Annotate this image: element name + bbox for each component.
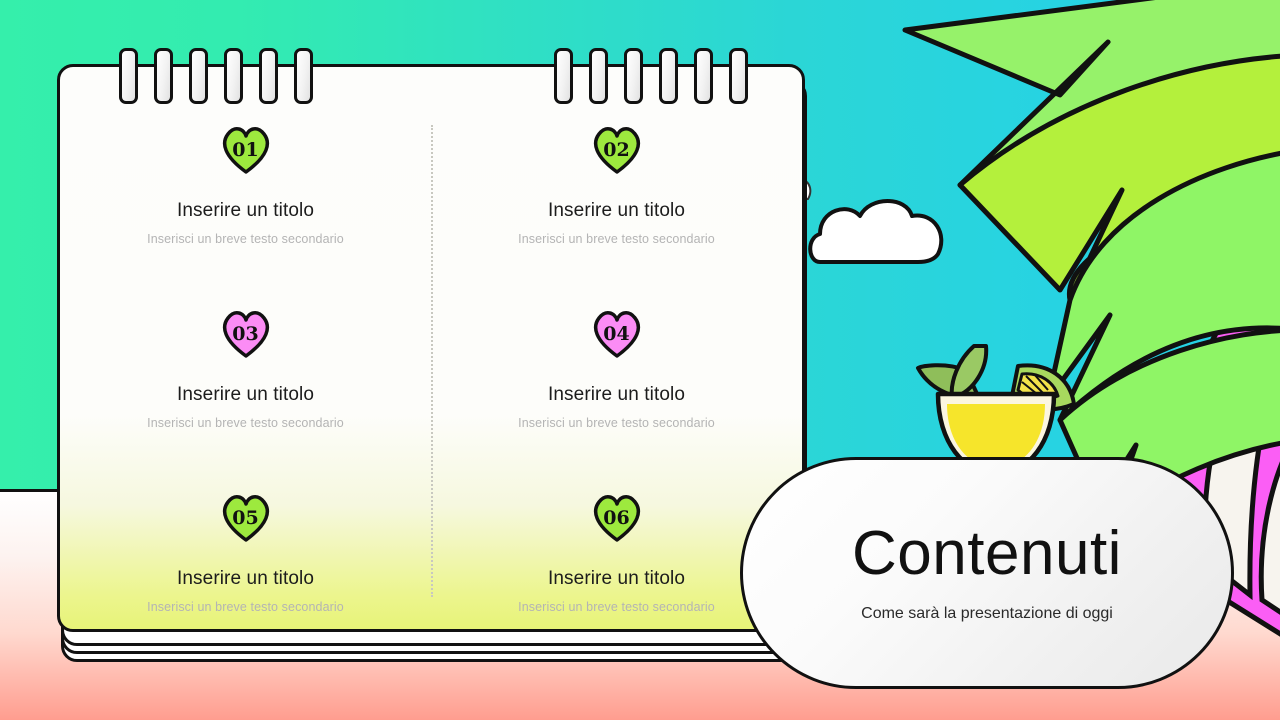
notepad-front-page: 01 Inserire un titolo Inserisci un breve… bbox=[57, 64, 805, 632]
heart-badge-03: 03 bbox=[218, 307, 274, 359]
list-item[interactable]: 05 Inserire un titolo Inserisci un breve… bbox=[60, 445, 431, 629]
title-pill: Contenuti Come sarà la presentazione di … bbox=[740, 457, 1234, 689]
spiral-ring bbox=[554, 48, 573, 104]
item-title: Inserire un titolo bbox=[177, 384, 314, 406]
item-subtitle: Inserisci un breve testo secondario bbox=[518, 416, 715, 430]
item-number: 05 bbox=[218, 491, 274, 543]
item-title: Inserire un titolo bbox=[548, 200, 685, 222]
spiral-ring bbox=[694, 48, 713, 104]
item-title: Inserire un titolo bbox=[548, 384, 685, 406]
list-item[interactable]: 04 Inserire un titolo Inserisci un breve… bbox=[431, 261, 802, 445]
heart-badge-04: 04 bbox=[589, 307, 645, 359]
cloud-large-icon bbox=[806, 192, 952, 266]
heart-badge-06: 06 bbox=[589, 491, 645, 543]
item-number: 06 bbox=[589, 491, 645, 543]
page-subtitle: Come sarà la presentazione di oggi bbox=[861, 605, 1113, 623]
item-subtitle: Inserisci un breve testo secondario bbox=[518, 600, 715, 614]
spiral-ring bbox=[224, 48, 243, 104]
list-item[interactable]: 02 Inserire un titolo Inserisci un breve… bbox=[431, 77, 802, 261]
item-number: 01 bbox=[218, 123, 274, 175]
item-subtitle: Inserisci un breve testo secondario bbox=[147, 232, 344, 246]
heart-badge-05: 05 bbox=[218, 491, 274, 543]
notepad-spiral-rings bbox=[57, 48, 805, 104]
spiral-ring bbox=[729, 48, 748, 104]
item-title: Inserire un titolo bbox=[177, 568, 314, 590]
spiral-ring bbox=[259, 48, 278, 104]
spiral-ring bbox=[189, 48, 208, 104]
notepad-page-stack: 01 Inserire un titolo Inserisci un breve… bbox=[57, 64, 805, 664]
content-grid: 01 Inserire un titolo Inserisci un breve… bbox=[60, 67, 802, 629]
heart-badge-02: 02 bbox=[589, 123, 645, 175]
spiral-ring bbox=[589, 48, 608, 104]
spiral-ring bbox=[294, 48, 313, 104]
item-number: 04 bbox=[589, 307, 645, 359]
notepad: 01 Inserire un titolo Inserisci un breve… bbox=[57, 64, 805, 634]
item-subtitle: Inserisci un breve testo secondario bbox=[147, 600, 344, 614]
list-item[interactable]: 01 Inserire un titolo Inserisci un breve… bbox=[60, 77, 431, 261]
item-subtitle: Inserisci un breve testo secondario bbox=[518, 232, 715, 246]
spiral-ring bbox=[119, 48, 138, 104]
item-number: 02 bbox=[589, 123, 645, 175]
slide-canvas: 01 Inserire un titolo Inserisci un breve… bbox=[0, 0, 1280, 720]
item-subtitle: Inserisci un breve testo secondario bbox=[147, 416, 344, 430]
page-title: Contenuti bbox=[852, 523, 1122, 585]
item-title: Inserire un titolo bbox=[177, 200, 314, 222]
item-number: 03 bbox=[218, 307, 274, 359]
item-title: Inserire un titolo bbox=[548, 568, 685, 590]
spiral-ring bbox=[154, 48, 173, 104]
spiral-ring bbox=[659, 48, 678, 104]
list-item[interactable]: 03 Inserire un titolo Inserisci un breve… bbox=[60, 261, 431, 445]
heart-badge-01: 01 bbox=[218, 123, 274, 175]
spiral-ring bbox=[624, 48, 643, 104]
